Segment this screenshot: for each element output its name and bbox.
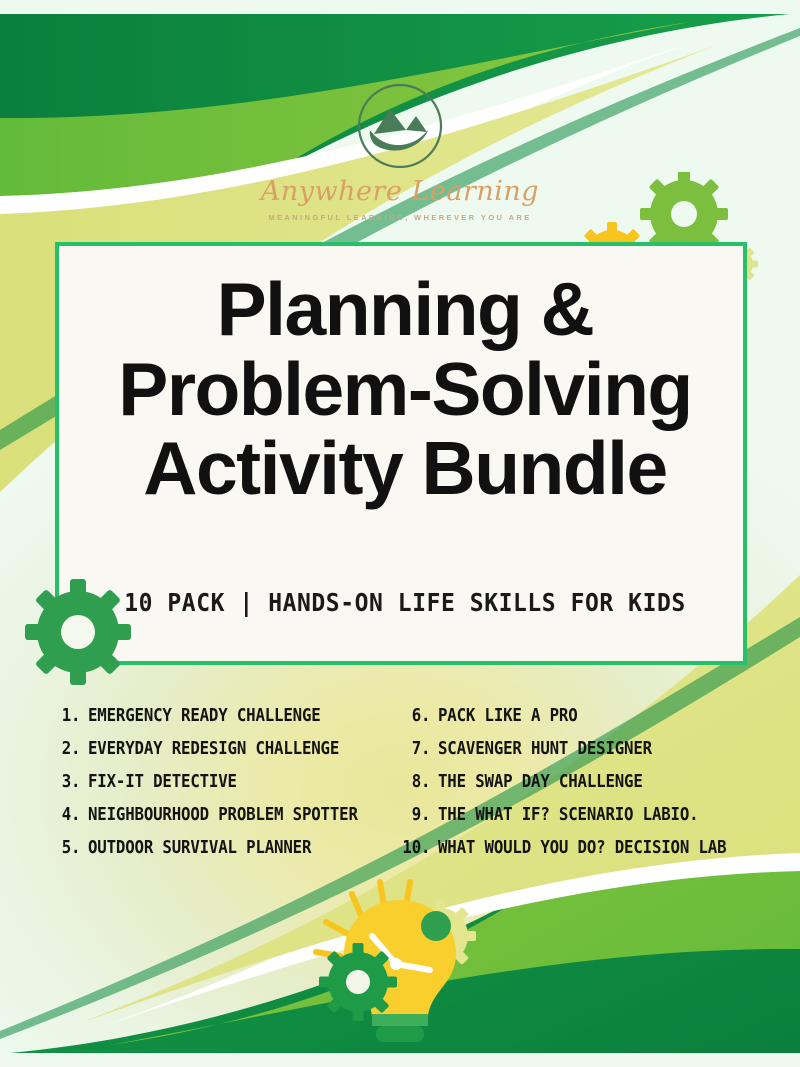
- lightbulb-clock-gears-icon: [300, 878, 510, 1048]
- activity-list-column-right: 6. PACK LIKE A PRO 7. SCAVENGER HUNT DES…: [398, 706, 768, 871]
- list-item-number: 10.: [400, 838, 431, 858]
- gear-icon: [18, 572, 138, 692]
- title-frame-panel: Planning & Problem-Solving Activity Bund…: [55, 242, 747, 665]
- title-line-2: Problem-Solving: [59, 350, 751, 430]
- list-item: 9. THE WHAT IF? SCENARIO LABIO.: [398, 805, 768, 838]
- list-item: 1. EMERGENCY READY CHALLENGE: [48, 706, 418, 739]
- list-item-label: EMERGENCY READY CHALLENGE: [88, 706, 321, 726]
- list-item-number: 7.: [400, 739, 431, 759]
- mountain-path-circle-logo-icon: [352, 78, 448, 174]
- list-item: 8. THE SWAP DAY CHALLENGE: [398, 772, 768, 805]
- list-item-number: 5.: [50, 838, 81, 858]
- list-item-label: OUTDOOR SURVIVAL PLANNER: [88, 838, 311, 858]
- list-item-label: PACK LIKE A PRO: [438, 706, 578, 726]
- list-item-number: 8.: [400, 772, 431, 792]
- title-line-3: Activity Bundle: [59, 429, 751, 509]
- list-item: 4. NEIGHBOURHOOD PROBLEM SPOTTER: [48, 805, 418, 838]
- list-item-label: THE WHAT IF? SCENARIO LABIO.: [438, 805, 698, 825]
- list-item: 2. EVERYDAY REDESIGN CHALLENGE: [48, 739, 418, 772]
- list-item-number: 1.: [50, 706, 81, 726]
- poster-canvas: Anywhere Learning MEANINGFUL LEARNING, W…: [0, 0, 800, 1067]
- subtitle: 10 PACK | HANDS-ON LIFE SKILLS FOR KIDS: [87, 588, 724, 617]
- list-item-label: WHAT WOULD YOU DO? DECISION LAB: [438, 838, 726, 858]
- list-item-number: 4.: [50, 805, 81, 825]
- list-item: 5. OUTDOOR SURVIVAL PLANNER: [48, 838, 418, 871]
- list-item-number: 9.: [400, 805, 431, 825]
- title-line-1: Planning &: [59, 270, 751, 350]
- list-item-label: FIX-IT DETECTIVE: [88, 772, 237, 792]
- activity-list: 1. EMERGENCY READY CHALLENGE 2. EVERYDAY…: [0, 706, 800, 871]
- list-item: 7. SCAVENGER HUNT DESIGNER: [398, 739, 768, 772]
- list-item-label: EVERYDAY REDESIGN CHALLENGE: [88, 739, 339, 759]
- list-item-number: 3.: [50, 772, 81, 792]
- list-item: 10. WHAT WOULD YOU DO? DECISION LAB: [398, 838, 768, 871]
- list-item: 3. FIX-IT DETECTIVE: [48, 772, 418, 805]
- list-item: 6. PACK LIKE A PRO: [398, 706, 768, 739]
- list-item-number: 2.: [50, 739, 81, 759]
- list-item-number: 6.: [400, 706, 431, 726]
- list-item-label: NEIGHBOURHOOD PROBLEM SPOTTER: [88, 805, 358, 825]
- list-item-label: THE SWAP DAY CHALLENGE: [438, 772, 643, 792]
- activity-list-column-left: 1. EMERGENCY READY CHALLENGE 2. EVERYDAY…: [48, 706, 418, 871]
- page-title: Planning & Problem-Solving Activity Bund…: [59, 270, 751, 509]
- list-item-label: SCAVENGER HUNT DESIGNER: [438, 739, 652, 759]
